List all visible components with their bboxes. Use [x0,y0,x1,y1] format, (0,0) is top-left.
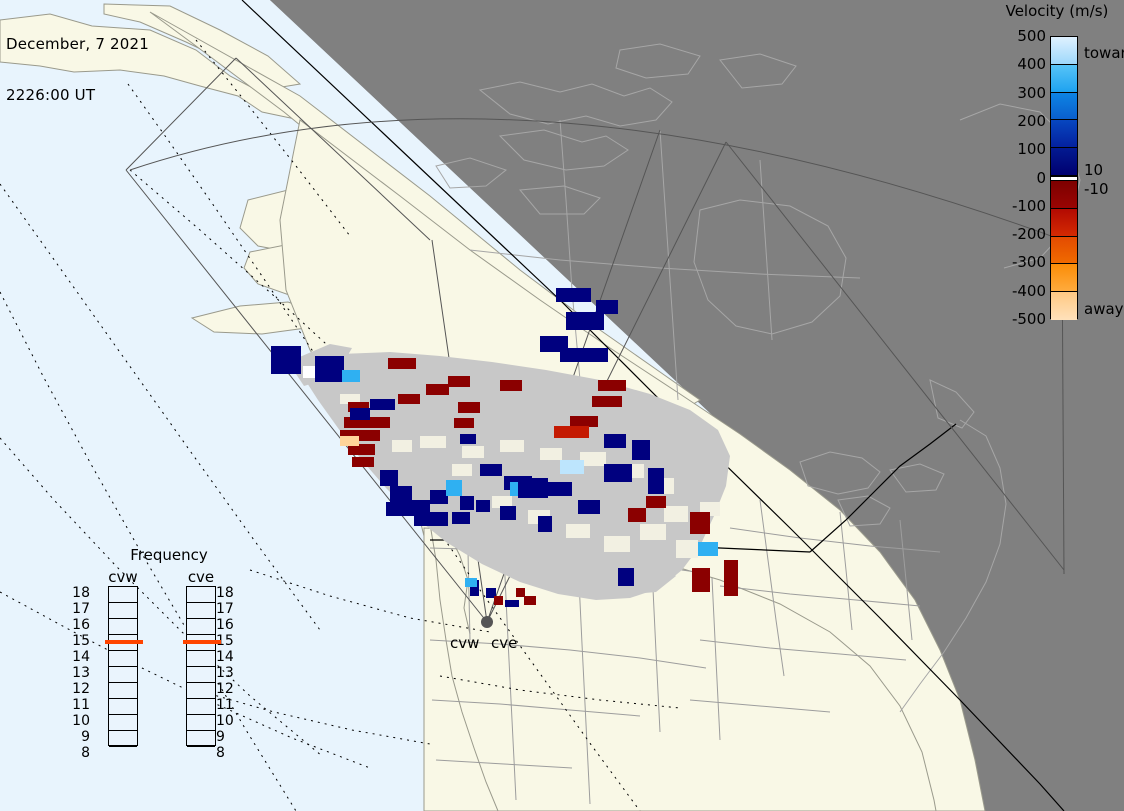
velocity-cell [570,416,598,427]
colorbar-zero-upper-label: 10 [1084,161,1103,179]
colorbar-title: Velocity (m/s) [982,2,1124,20]
colorbar-segment [1051,65,1077,93]
frequency-scale-row [109,635,137,651]
velocity-cell [628,508,646,522]
colorbar-tick-label: -200 [990,225,1046,243]
frequency-scale-box [108,586,138,746]
frequency-scale-row [109,651,137,667]
velocity-cell [724,560,738,596]
velocity-cell [446,480,462,496]
velocity-cell [556,288,591,302]
velocity-cell [566,312,604,330]
colorbar-segment [1051,237,1077,265]
frequency-scale-tick: 9 [68,729,90,745]
colorbar-tick-label: -300 [990,253,1046,271]
colorbar-tick-label: -400 [990,282,1046,300]
velocity-cell [430,490,448,504]
velocity-cell [426,384,449,395]
frequency-column-label: cvw [92,568,154,586]
frequency-scale-tick: 16 [68,617,90,633]
velocity-cell [646,496,666,508]
frequency-scale-tick: 11 [68,697,90,713]
velocity-cell [560,460,584,474]
velocity-cell [340,436,359,446]
frequency-scale-row [187,731,215,747]
colorbar-segment [1051,292,1077,320]
velocity-cell [476,500,490,512]
velocity-cell [460,496,474,510]
time-label: 2226:00 UT [6,87,149,104]
velocity-colorbar: Velocity (m/s) 5004003002001000-100-200-… [1008,0,1124,340]
colorbar-segment [1051,93,1077,121]
velocity-cell [692,568,710,592]
frequency-scale-row [109,683,137,699]
frequency-scale-tick: 14 [68,649,90,665]
colorbar-segment [1051,120,1077,148]
velocity-cell [604,464,632,482]
colorbar-away-label: away [1084,300,1124,318]
velocity-cell [398,394,420,404]
radar-site-marker [481,616,493,628]
velocity-cell [578,500,600,514]
colorbar-toward-label: toward [1084,44,1124,62]
frequency-scale-row [187,587,215,603]
velocity-cell [380,470,398,486]
colorbar-tick-label: 300 [990,84,1046,102]
frequency-legend: Frequency 18171615141312111098cvw1817161… [84,546,254,796]
velocity-cell [386,502,402,516]
velocity-cell [315,356,344,382]
frequency-scale-row [187,603,215,619]
frequency-scale-row [109,715,137,731]
frequency-scale-row [187,619,215,635]
frequency-scale-tick: 15 [68,633,90,649]
velocity-cell [632,440,650,460]
velocity-cell [352,457,374,467]
colorbar-segment [1051,148,1077,176]
frequency-scale-row [187,747,215,763]
colorbar-tick-label: 100 [990,140,1046,158]
frequency-scale-row [109,747,137,763]
frequency-scale-row [109,731,137,747]
frequency-scale-row [187,699,215,715]
velocity-cell [516,588,525,597]
frequency-scale-row [187,667,215,683]
velocity-cell [448,376,470,387]
frequency-scale-row [109,587,137,603]
colorbar-tick-label: 400 [990,55,1046,73]
colorbar-tick-label: 200 [990,112,1046,130]
velocity-cell [505,600,519,607]
velocity-cell [390,486,412,502]
frequency-scale-row [187,651,215,667]
frequency-scale-tick: 8 [216,745,238,761]
frequency-scale-box [186,586,216,746]
velocity-cell [465,578,477,587]
colorbar-tick-label: 500 [990,27,1046,45]
velocity-cell [452,512,470,524]
frequency-scale-tick: 10 [68,713,90,729]
frequency-scale-row [109,619,137,635]
velocity-cell [690,512,710,534]
frequency-column-cve: cve [170,568,232,746]
frequency-marker [183,640,221,644]
velocity-cell [648,468,664,494]
superdarn-velocity-map: December, 7 2021 2226:00 UT Velocity (m/… [0,0,1124,811]
frequency-scale-tick: 13 [68,665,90,681]
frequency-scale-tick: 17 [68,601,90,617]
velocity-cell [454,418,474,428]
frequency-scale-row [109,699,137,715]
velocity-cell [342,370,360,382]
frequency-scale-tick: 12 [68,681,90,697]
velocity-cell [414,512,448,526]
site-label-cvw: cvw [450,634,479,652]
colorbar-segment [1051,264,1077,292]
colorbar-segment [1051,37,1077,65]
velocity-cell [524,596,536,605]
frequency-scale-row [187,683,215,699]
date-label: December, 7 2021 [6,36,149,53]
frequency-scale-tick: 8 [68,745,90,761]
velocity-cell [560,348,608,362]
timestamp-block: December, 7 2021 2226:00 UT [6,2,149,138]
velocity-cell [458,402,480,413]
velocity-cell [604,434,626,448]
velocity-cell [698,542,718,556]
velocity-cell [271,346,301,374]
site-label-cve: cve [491,634,517,652]
velocity-cell [388,358,416,369]
velocity-cell [494,596,503,605]
velocity-cell [370,399,395,410]
frequency-scale-tick: 18 [68,585,90,601]
velocity-cell [554,426,589,438]
velocity-cell [546,482,572,496]
frequency-scale-row [187,715,215,731]
velocity-cell [350,408,370,420]
colorbar-zero-lower-label: -10 [1084,180,1109,198]
velocity-cell [598,380,626,391]
colorbar-gradient-stack [1050,36,1078,319]
frequency-legend-title: Frequency [84,546,254,564]
velocity-cell [618,568,634,586]
frequency-marker [105,640,143,644]
frequency-scale-row [109,603,137,619]
frequency-scale-row [109,667,137,683]
velocity-cell [518,478,548,498]
velocity-cell [480,464,502,476]
frequency-column-label: cve [170,568,232,586]
frequency-column-cvw: cvw [92,568,154,746]
velocity-cell [538,516,552,532]
velocity-cell [500,506,516,520]
colorbar-segment [1051,209,1077,237]
velocity-cell [596,300,618,314]
velocity-cell [592,396,622,407]
colorbar-segment [1051,181,1077,209]
frequency-scale-row [187,635,215,651]
velocity-cell [500,380,522,391]
colorbar-tick-label: -500 [990,310,1046,328]
colorbar-tick-label: -100 [990,197,1046,215]
colorbar-tick-label: 0 [990,169,1046,187]
velocity-cell [460,434,476,444]
